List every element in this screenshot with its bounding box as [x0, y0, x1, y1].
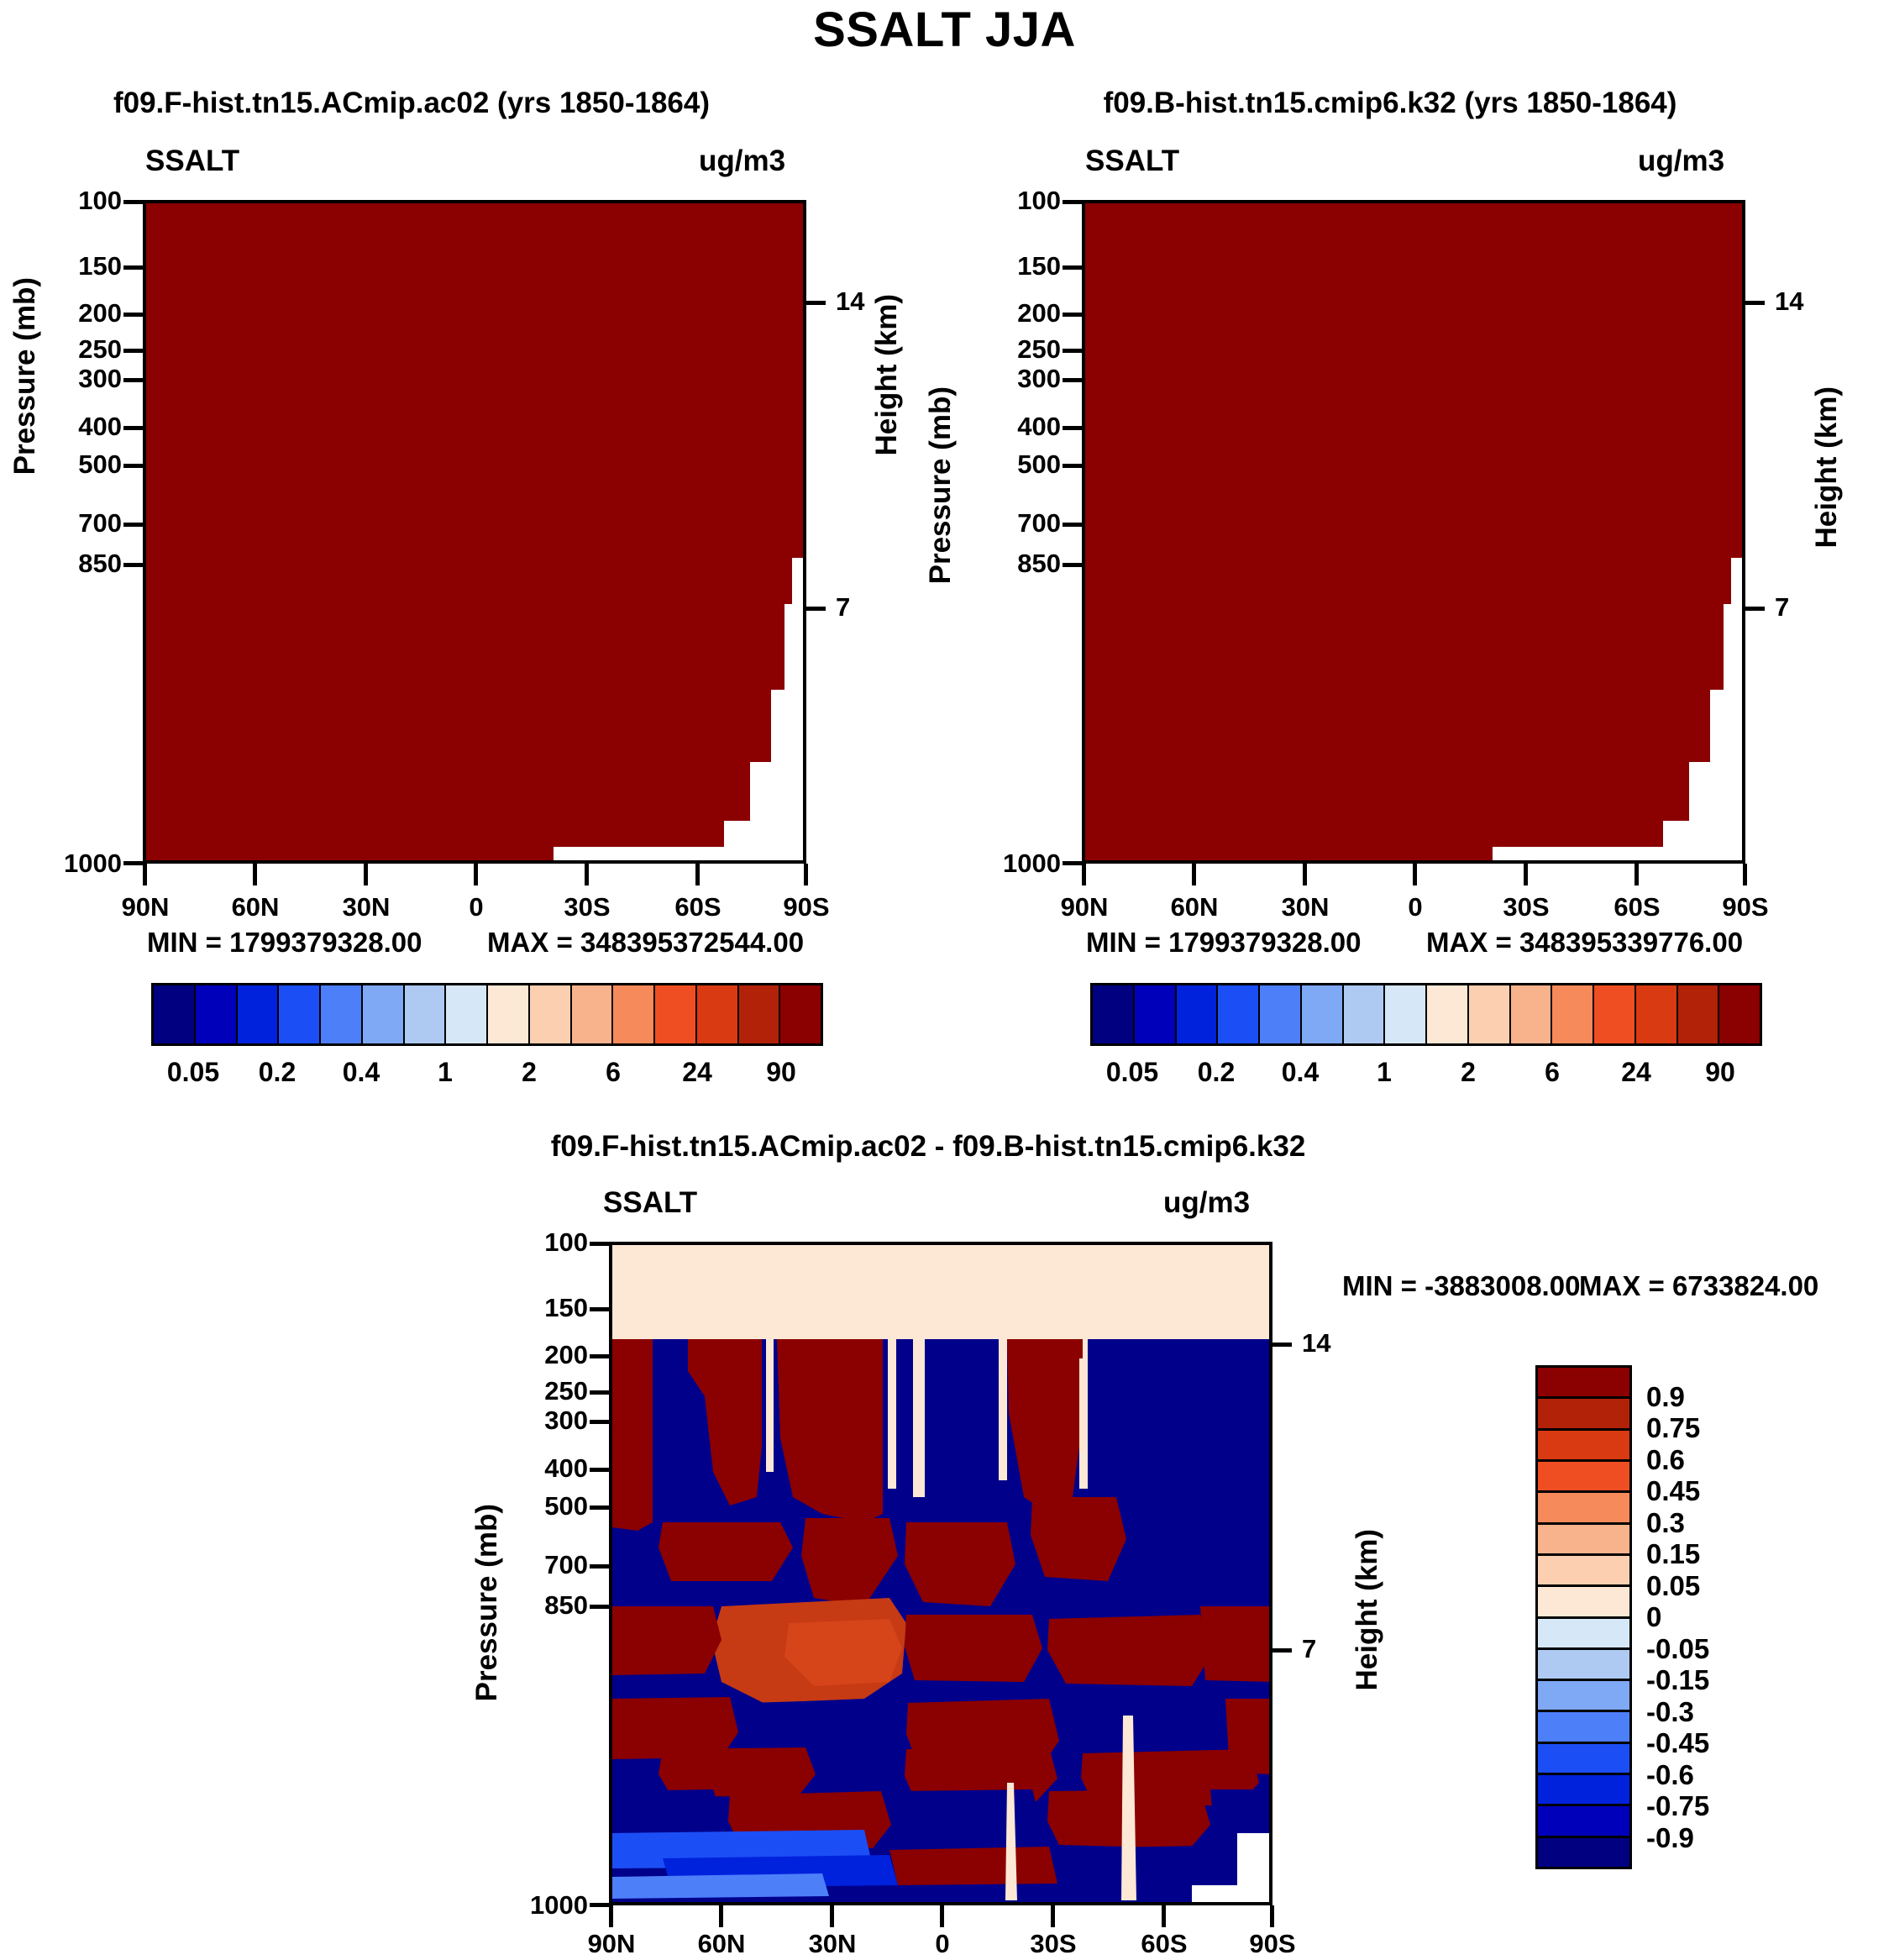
colorbar-cell-4: [321, 985, 363, 1043]
panel-diff-htick-7: 7: [1302, 1634, 1316, 1664]
colorbar-label-7: 90: [1705, 1057, 1735, 1088]
panel-left-ytick-700: 700: [34, 508, 122, 539]
panel-diff-xtick-90N: 90N: [561, 1929, 662, 1959]
colorbar-diff-cell-10: [1538, 1681, 1629, 1712]
panel-right-xtick-90S: 90S: [1695, 892, 1796, 922]
colorbar-left-labels: 0.050.20.41262490: [151, 1057, 823, 1095]
panel-diff-min-text: MIN = -3883008.00: [1342, 1270, 1580, 1302]
panel-right-ytick-300: 300: [973, 364, 1061, 394]
panel-left-ytick-300: 300: [34, 364, 122, 394]
panel-diff-ytick-300: 300: [500, 1406, 588, 1436]
colorbar-diff-cell-14: [1538, 1806, 1629, 1837]
colorbar-cell-2: [1177, 985, 1219, 1043]
colorbar-label-1: 0.2: [1198, 1057, 1235, 1088]
panel-left-xtick-60S: 60S: [648, 892, 748, 922]
colorbar-label-1: 0.2: [259, 1057, 296, 1088]
panel-left-ytick-500: 500: [34, 449, 122, 480]
colorbar-cell-12: [1594, 985, 1636, 1043]
panel-right-units-label: ug/m3: [1638, 145, 1724, 178]
colorbar-cell-3: [1218, 985, 1260, 1043]
colorbar-diff-label-13: -0.75: [1646, 1790, 1709, 1822]
colorbar-diff-label-8: -0.05: [1646, 1633, 1709, 1665]
panel-right-ytick-400: 400: [973, 412, 1061, 442]
panel-diff-y2label: Height (km): [1351, 1529, 1384, 1691]
colorbar-label-4: 2: [522, 1057, 537, 1088]
colorbar-diff-cell-8: [1538, 1619, 1629, 1650]
panel-diff-ytick-200: 200: [500, 1340, 588, 1370]
colorbar-cell-0: [1093, 985, 1135, 1043]
panel-right-ytick-850: 850: [973, 549, 1061, 579]
panel-left-ytick-850: 850: [34, 549, 122, 579]
panel-diff-title: f09.F-hist.tn15.ACmip.ac02 - f09.B-hist.…: [437, 1130, 1419, 1164]
colorbar-cell-14: [1678, 985, 1720, 1043]
colorbar-right[interactable]: [1090, 983, 1762, 1046]
colorbar-diff-cell-15: [1538, 1838, 1629, 1867]
colorbar-diff-cell-12: [1538, 1744, 1629, 1775]
panel-left-title: f09.F-hist.tn15.ACmip.ac02 (yrs 1850-186…: [46, 87, 777, 120]
panel-diff-ylabel: Pressure (mb): [470, 1504, 504, 1701]
colorbar-diff-label-10: -0.3: [1646, 1696, 1694, 1728]
colorbar-diff-cell-7: [1538, 1587, 1629, 1618]
panel-right-xtick-30N: 30N: [1255, 892, 1356, 922]
panel-right-ytick-700: 700: [973, 508, 1061, 539]
panel-left-min-text: MIN = 1799379328.00: [147, 927, 422, 959]
panel-left-ytick-1000: 1000: [18, 849, 122, 879]
colorbar-diff-cell-6: [1538, 1556, 1629, 1587]
colorbar-diff-cell-13: [1538, 1775, 1629, 1806]
panel-diff-ytick-150: 150: [500, 1293, 588, 1323]
colorbar-right-labels: 0.050.20.41262490: [1090, 1057, 1762, 1095]
panel-left-htick-7: 7: [836, 592, 850, 623]
colorbar-cell-9: [530, 985, 572, 1043]
panel-right-min-text: MIN = 1799379328.00: [1086, 927, 1362, 959]
panel-right-ytick-500: 500: [973, 449, 1061, 480]
colorbar-cell-5: [1302, 985, 1344, 1043]
colorbar-cell-15: [780, 985, 821, 1043]
panel-right-ytick-200: 200: [973, 298, 1061, 328]
panel-right-ytick-1000: 1000: [958, 849, 1061, 879]
panel-diff-htick-14: 14: [1302, 1328, 1330, 1358]
colorbar-diff-label-12: -0.6: [1646, 1759, 1694, 1791]
colorbar-diff-cell-5: [1538, 1525, 1629, 1556]
panel-left-ytick-250: 250: [34, 334, 122, 365]
colorbar-cell-12: [655, 985, 697, 1043]
colorbar-label-2: 0.4: [343, 1057, 380, 1088]
colorbar-cell-4: [1260, 985, 1302, 1043]
colorbar-cell-13: [697, 985, 739, 1043]
colorbar-label-5: 6: [606, 1057, 621, 1088]
panel-right-ylabel: Pressure (mb): [924, 386, 958, 584]
panel-left-plot-area: [143, 200, 806, 864]
panel-diff-xtick-60N: 60N: [671, 1929, 772, 1959]
panel-diff-xtick-30S: 30S: [1003, 1929, 1104, 1959]
panel-diff-xtick-0: 0: [892, 1929, 993, 1959]
panel-left-ytick-100: 100: [34, 186, 122, 216]
colorbar-cell-11: [1552, 985, 1594, 1043]
colorbar-diff-label-14: -0.9: [1646, 1822, 1694, 1854]
colorbar-cell-8: [1427, 985, 1469, 1043]
colorbar-label-3: 1: [438, 1057, 453, 1088]
panel-left-units-label: ug/m3: [699, 145, 785, 178]
colorbar-label-6: 24: [1621, 1057, 1651, 1088]
panel-right-xtick-30S: 30S: [1476, 892, 1577, 922]
panel-right-ytick-150: 150: [973, 251, 1061, 281]
colorbar-cell-1: [196, 985, 238, 1043]
panel-left-y2label: Height (km): [870, 294, 904, 456]
panel-diff-var-label: SSALT: [603, 1186, 697, 1220]
panel-left-max-text: MAX = 348395372544.00: [487, 927, 804, 959]
panel-diff-plot-area: [609, 1242, 1272, 1905]
colorbar-cell-0: [154, 985, 196, 1043]
panel-left-xtick-30N: 30N: [316, 892, 417, 922]
colorbar-diff-cell-11: [1538, 1712, 1629, 1743]
panel-diff-units-label: ug/m3: [1163, 1186, 1250, 1220]
panel-diff-ytick-500: 500: [500, 1491, 588, 1521]
colorbar-diff-label-0: 0.9: [1646, 1381, 1685, 1413]
colorbar-cell-10: [572, 985, 614, 1043]
colorbar-label-5: 6: [1545, 1057, 1560, 1088]
panel-right-xtick-90N: 90N: [1034, 892, 1135, 922]
colorbar-cell-8: [488, 985, 530, 1043]
colorbar-cell-6: [405, 985, 447, 1043]
colorbar-cell-5: [363, 985, 405, 1043]
panel-left-ytick-150: 150: [34, 251, 122, 281]
panel-right-ytick-250: 250: [973, 334, 1061, 365]
colorbar-diff-cell-2: [1538, 1431, 1629, 1462]
panel-diff-ytick-100: 100: [500, 1227, 588, 1258]
panel-right-ytick-100: 100: [973, 186, 1061, 216]
panel-diff-max-text: MAX = 6733824.00: [1579, 1270, 1818, 1302]
colorbar-label-0: 0.05: [167, 1057, 219, 1088]
colorbar-cell-13: [1636, 985, 1678, 1043]
panel-right-title: f09.B-hist.tn15.cmip6.k32 (yrs 1850-1864…: [1000, 87, 1781, 120]
panel-right-y2label: Height (km): [1810, 386, 1844, 549]
panel-left-ytick-200: 200: [34, 298, 122, 328]
colorbar-label-7: 90: [766, 1057, 796, 1088]
colorbar-cell-3: [279, 985, 321, 1043]
colorbar-diff-label-2: 0.6: [1646, 1444, 1685, 1476]
panel-diff-xtick-60S: 60S: [1114, 1929, 1215, 1959]
panel-right-max-text: MAX = 348395339776.00: [1426, 927, 1743, 959]
panel-left-xtick-30S: 30S: [537, 892, 638, 922]
colorbar-cell-2: [238, 985, 280, 1043]
colorbar-cell-14: [739, 985, 781, 1043]
colorbar-diff-label-1: 0.75: [1646, 1412, 1700, 1444]
colorbar-diff-label-3: 0.45: [1646, 1475, 1700, 1507]
panel-diff-ytick-850: 850: [500, 1590, 588, 1621]
colorbar-diff-label-11: -0.45: [1646, 1727, 1709, 1759]
colorbar-diff-label-7: 0: [1646, 1601, 1661, 1633]
colorbar-cell-15: [1719, 985, 1760, 1043]
colorbar-diff-labels: 0.90.750.60.450.30.150.050-0.05-0.15-0.3…: [1646, 1365, 1797, 1869]
colorbar-diff-cell-4: [1538, 1493, 1629, 1524]
page-title: SSALT JJA: [0, 2, 1889, 58]
panel-right-var-label: SSALT: [1085, 145, 1179, 178]
panel-diff-ytick-700: 700: [500, 1550, 588, 1580]
panel-left-ytick-400: 400: [34, 412, 122, 442]
panel-left-xtick-60N: 60N: [205, 892, 306, 922]
colorbar-diff-label-5: 0.15: [1646, 1538, 1700, 1570]
panel-right-xtick-60S: 60S: [1587, 892, 1687, 922]
diff-contour-svg: [612, 1245, 1272, 1905]
colorbar-cell-11: [613, 985, 655, 1043]
colorbar-cell-7: [446, 985, 488, 1043]
colorbar-diff-cell-1: [1538, 1399, 1629, 1430]
colorbar-cell-6: [1344, 985, 1386, 1043]
colorbar-diff-label-6: 0.05: [1646, 1570, 1700, 1602]
panel-diff-ytick-400: 400: [500, 1453, 588, 1484]
panel-right-xtick-0: 0: [1365, 892, 1466, 922]
colorbar-cell-9: [1469, 985, 1511, 1043]
colorbar-diff-cell-3: [1538, 1462, 1629, 1493]
panel-right-htick-7: 7: [1775, 592, 1789, 623]
panel-diff-ytick-250: 250: [500, 1376, 588, 1406]
colorbar-label-6: 24: [682, 1057, 712, 1088]
colorbar-diff-label-9: -0.15: [1646, 1664, 1709, 1696]
panel-right-xtick-60N: 60N: [1144, 892, 1245, 922]
colorbar-left[interactable]: [151, 983, 823, 1046]
panel-right-plot-area: [1082, 200, 1745, 864]
colorbar-label-3: 1: [1377, 1057, 1392, 1088]
panel-diff-ytick-1000: 1000: [485, 1890, 588, 1921]
colorbar-label-4: 2: [1461, 1057, 1476, 1088]
panel-diff-xtick-30N: 30N: [782, 1929, 883, 1959]
panel-left-xtick-90N: 90N: [95, 892, 196, 922]
panel-left-var-label: SSALT: [145, 145, 239, 178]
colorbar-cell-7: [1385, 985, 1427, 1043]
colorbar-diff-label-4: 0.3: [1646, 1507, 1685, 1539]
colorbar-diff[interactable]: [1535, 1365, 1632, 1869]
panel-right-htick-14: 14: [1775, 286, 1803, 317]
panel-left-xtick-90S: 90S: [756, 892, 857, 922]
colorbar-diff-cell-0: [1538, 1368, 1629, 1399]
colorbar-label-2: 0.4: [1282, 1057, 1319, 1088]
panel-left-xtick-0: 0: [426, 892, 527, 922]
colorbar-label-0: 0.05: [1106, 1057, 1158, 1088]
panel-left-htick-14: 14: [836, 286, 864, 317]
colorbar-diff-cell-9: [1538, 1650, 1629, 1681]
colorbar-cell-1: [1135, 985, 1177, 1043]
panel-diff-xtick-90S: 90S: [1222, 1929, 1323, 1959]
colorbar-cell-10: [1511, 985, 1553, 1043]
